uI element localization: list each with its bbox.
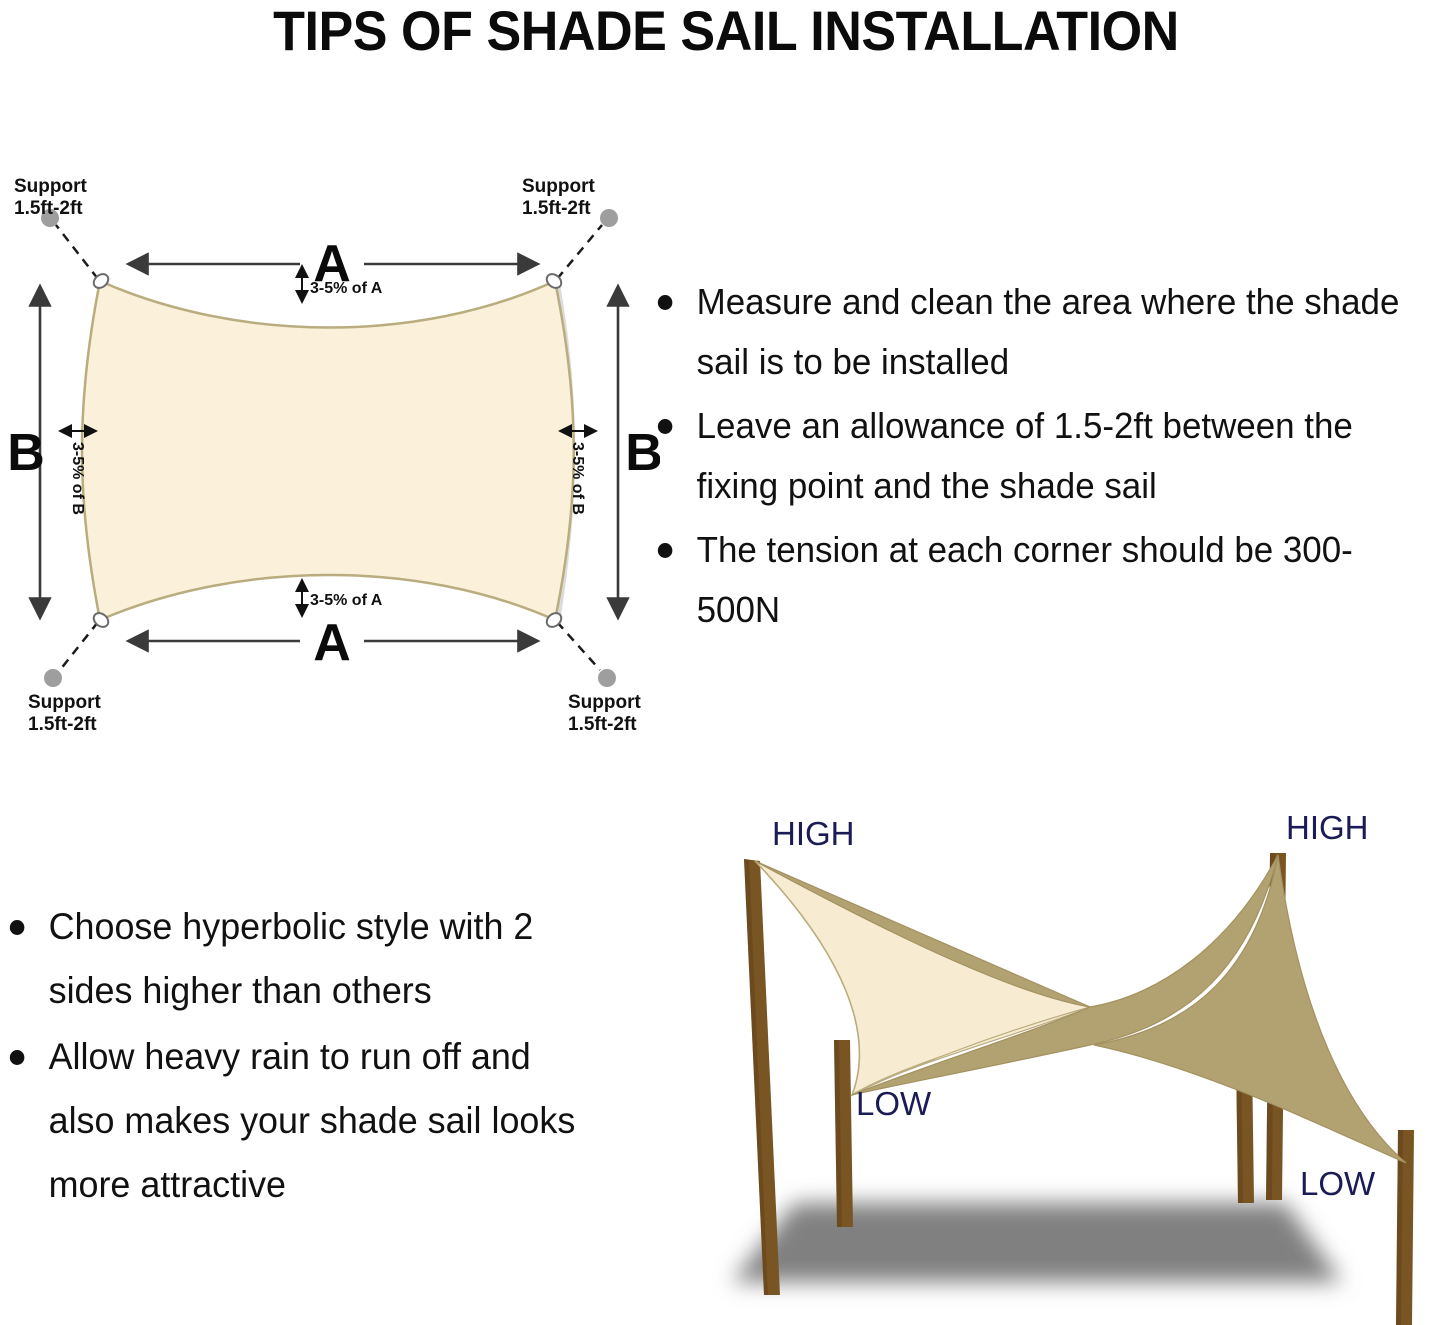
- list-item: Leave an allowance of 1.5-2ft between th…: [652, 396, 1428, 516]
- post-low-left: [834, 1040, 853, 1227]
- label-low-left: LOW: [856, 1085, 932, 1122]
- hyperbolic-sail-diagram-container: HIGH HIGH LOW LOW: [660, 795, 1452, 1325]
- label-high-left: HIGH: [772, 815, 855, 852]
- svg-text:1.5ft-2ft: 1.5ft-2ft: [568, 714, 637, 735]
- hyperbolic-style-tips-list: Choose hyperbolic style with 2 sides hig…: [4, 895, 624, 1219]
- list-item: Choose hyperbolic style with 2 sides hig…: [4, 895, 605, 1023]
- installation-tips-list: Measure and clean the area where the sha…: [652, 272, 1452, 644]
- svg-text:Support: Support: [28, 692, 101, 713]
- list-item: Allow heavy rain to run off and also mak…: [4, 1025, 605, 1217]
- sail-body: [82, 281, 574, 620]
- svg-text:1.5ft-2ft: 1.5ft-2ft: [522, 198, 591, 219]
- label-low-right: LOW: [1300, 1165, 1376, 1202]
- post-high-left: [744, 859, 780, 1295]
- label-high-right: HIGH: [1286, 809, 1369, 846]
- svg-text:1.5ft-2ft: 1.5ft-2ft: [14, 198, 83, 219]
- support-label-top-left: Support 1.5ft-2ft: [14, 176, 87, 219]
- dim-letter-left: B: [7, 424, 45, 482]
- sag-note-top: 3-5% of A: [310, 280, 383, 297]
- rect-sail-diagram-container: A A B B 3-5% of A 3-5% of A 3-5% of B 3-…: [0, 168, 660, 738]
- dim-letter-bottom: A: [313, 614, 351, 672]
- svg-text:Support: Support: [568, 692, 641, 713]
- support-label-bottom-right: Support 1.5ft-2ft: [568, 692, 641, 735]
- support-tether-top-left: [56, 225, 98, 279]
- list-item: Measure and clean the area where the sha…: [652, 272, 1428, 392]
- sag-note-left: 3-5% of B: [69, 442, 86, 515]
- support-tether-bottom-right: [557, 622, 600, 670]
- ground-shadow: [732, 1203, 1342, 1282]
- support-label-bottom-left: Support 1.5ft-2ft: [28, 692, 101, 735]
- support-label-top-right: Support 1.5ft-2ft: [522, 176, 595, 219]
- sag-note-bottom: 3-5% of A: [310, 592, 383, 609]
- support-tether-bottom-left: [60, 622, 98, 670]
- list-item: The tension at each corner should be 300…: [652, 520, 1428, 640]
- svg-text:1.5ft-2ft: 1.5ft-2ft: [28, 714, 97, 735]
- svg-text:Support: Support: [522, 176, 595, 197]
- support-dot-top-right: [600, 209, 618, 227]
- support-tether-top-right: [557, 225, 602, 279]
- svg-text:Support: Support: [14, 176, 87, 197]
- sag-note-right: 3-5% of B: [569, 442, 586, 515]
- support-dot-bottom-right: [598, 669, 616, 687]
- page-title: TIPS OF SHADE SAIL INSTALLATION: [51, 0, 1401, 62]
- sail-panel-cream: [755, 861, 1090, 1095]
- support-dot-bottom-left: [44, 669, 62, 687]
